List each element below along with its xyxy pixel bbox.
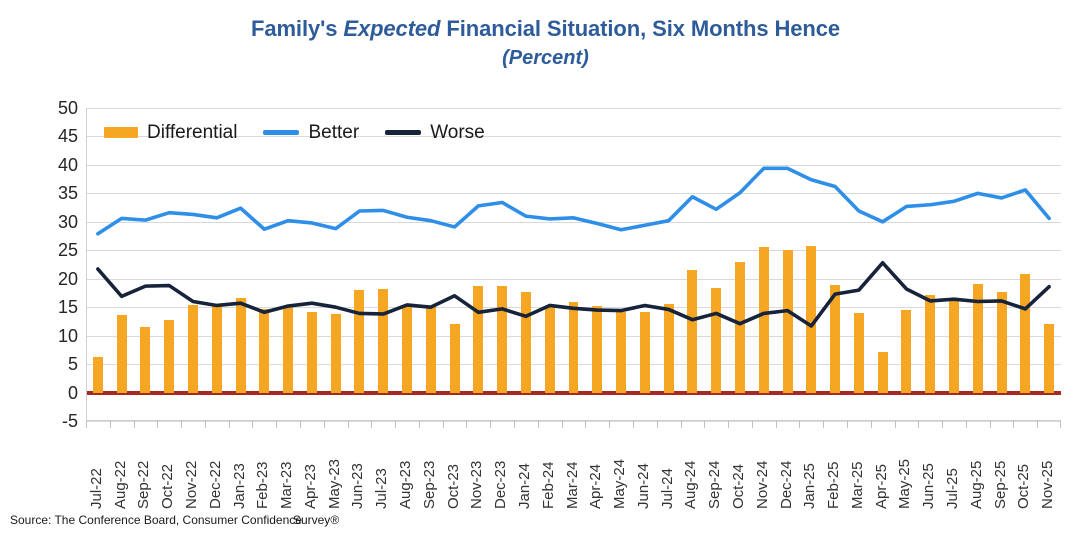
x-axis-tick-label: Jul-24 [660, 468, 675, 509]
x-axis-tick [157, 421, 158, 428]
y-axis-tick-label: 30 [8, 212, 78, 232]
x-axis-tick-label: Jul-25 [945, 468, 960, 509]
x-axis-tick-label: Nov-23 [469, 461, 484, 509]
x-axis-tick-label: Sep-24 [707, 461, 722, 509]
y-axis-tick-label: 0 [8, 383, 78, 403]
x-axis-tick [181, 421, 182, 428]
x-axis-tick-label: Mar-23 [279, 461, 294, 509]
title-emphasis: Expected [343, 16, 440, 41]
source-note: Source: The Conference Board, Consumer C… [10, 513, 348, 527]
x-axis-tick-label: Sep-22 [136, 461, 151, 509]
y-axis-tick-label: 45 [8, 126, 78, 146]
y-axis-tick-label: 50 [8, 98, 78, 118]
line-series-layer [86, 108, 1061, 421]
legend-line-swatch-worse-icon [385, 130, 421, 135]
x-axis-tick [229, 421, 230, 428]
registered-mark-icon: ® [330, 513, 339, 527]
x-axis-tick [1013, 421, 1014, 428]
x-axis-tick-label: Mar-25 [850, 461, 865, 509]
x-axis-tick [371, 421, 372, 428]
x-axis-tick-label: Jun-25 [921, 463, 936, 509]
x-axis-tick-label: Jun-23 [350, 463, 365, 509]
legend-item-worse[interactable]: Worse [385, 123, 485, 142]
x-axis-tick [633, 421, 634, 428]
x-axis-tick [847, 421, 848, 428]
x-axis-tick [895, 421, 896, 428]
legend-label-differential: Differential [147, 123, 237, 142]
x-axis-tick-label: Nov-24 [755, 461, 770, 509]
x-axis-tick [657, 421, 658, 428]
x-axis-tick [942, 421, 943, 428]
x-axis-tick [966, 421, 967, 428]
x-axis-tick-label: Apr-24 [588, 464, 603, 509]
legend-item-better[interactable]: Better [263, 123, 359, 142]
x-axis-tick-label: Sep-25 [993, 461, 1008, 509]
x-axis-tick [300, 421, 301, 428]
x-axis-tick [704, 421, 705, 428]
x-axis-tick [990, 421, 991, 428]
x-axis-tick [419, 421, 420, 428]
x-axis-tick-label: Jan-23 [232, 463, 247, 509]
x-axis-tick [466, 421, 467, 428]
x-axis-tick [1037, 421, 1038, 428]
x-axis-tick-label: Aug-24 [683, 461, 698, 509]
y-axis-tick-label: 5 [8, 354, 78, 374]
line-better [98, 168, 1049, 233]
x-axis-tick [918, 421, 919, 428]
x-axis-tick [86, 421, 87, 428]
x-axis-tick [348, 421, 349, 428]
x-axis-tick-label: Oct-25 [1016, 464, 1031, 509]
x-axis-tick [728, 421, 729, 428]
legend-item-differential[interactable]: Differential [104, 123, 237, 142]
x-axis-tick [443, 421, 444, 428]
y-axis-tick-label: 20 [8, 269, 78, 289]
x-axis-tick-label: Nov-25 [1040, 461, 1055, 509]
y-axis-tick-label: 35 [8, 183, 78, 203]
title-part-2: Financial Situation, Six Months Hence [440, 16, 840, 41]
title-part-1: Family's [251, 16, 343, 41]
x-axis-tick [585, 421, 586, 428]
x-axis-tick-label: Feb-23 [255, 461, 270, 509]
line-worse [98, 263, 1049, 326]
x-axis-tick-label: Dec-23 [493, 461, 508, 509]
x-axis-tick [681, 421, 682, 428]
x-axis-tick-label: Sep-23 [422, 461, 437, 509]
source-text: Source: The Conference Board, Consumer C… [10, 513, 302, 527]
x-axis-tick [110, 421, 111, 428]
x-axis-tick-label: Feb-25 [826, 461, 841, 509]
y-axis-tick-label: 40 [8, 155, 78, 175]
x-axis-tick [1060, 421, 1061, 428]
x-axis-tick [134, 421, 135, 428]
x-axis-tick-label: Feb-24 [541, 461, 556, 509]
chart-container: Family's Expected Financial Situation, S… [0, 0, 1091, 547]
x-axis-tick-label: May-25 [897, 459, 912, 509]
x-axis-tick-label: Jan-25 [802, 463, 817, 509]
x-axis-tick-label: Oct-24 [731, 464, 746, 509]
x-axis-tick [823, 421, 824, 428]
x-axis-tick [205, 421, 206, 428]
y-axis-labels: 50454035302520151050-5 [0, 108, 78, 421]
x-axis-ticks [86, 421, 1061, 429]
x-axis-tick-label: Oct-23 [446, 464, 461, 509]
x-axis-tick [609, 421, 610, 428]
x-axis-tick-label: Jun-24 [636, 463, 651, 509]
x-axis-tick-label: Jan-24 [517, 463, 532, 509]
y-axis-tick-label: 25 [8, 240, 78, 260]
x-axis-tick-label: Jul-22 [89, 468, 104, 509]
x-axis-tick-label: Dec-22 [208, 461, 223, 509]
x-axis-tick-label: Mar-24 [565, 461, 580, 509]
legend-label-worse: Worse [430, 123, 485, 142]
legend-label-better: Better [308, 123, 359, 142]
x-axis-tick-label: Dec-24 [779, 461, 794, 509]
legend-line-swatch-better-icon [263, 130, 299, 135]
x-axis-tick [514, 421, 515, 428]
x-axis-tick [252, 421, 253, 428]
y-axis-tick-label: -5 [8, 411, 78, 431]
x-axis-tick-label: May-24 [612, 459, 627, 509]
x-axis-tick [752, 421, 753, 428]
x-axis-tick [276, 421, 277, 428]
x-axis-tick [799, 421, 800, 428]
source-survey-text: Survey [293, 513, 330, 527]
x-axis-tick [776, 421, 777, 428]
x-axis-tick-label: Aug-25 [969, 461, 984, 509]
x-axis-tick [324, 421, 325, 428]
x-axis-tick-label: Apr-25 [874, 464, 889, 509]
x-axis-tick [490, 421, 491, 428]
x-axis-tick [395, 421, 396, 428]
x-axis-tick-label: Oct-22 [160, 464, 175, 509]
x-axis-tick [871, 421, 872, 428]
x-axis-tick-label: Aug-23 [398, 461, 413, 509]
x-axis-tick-label: Aug-22 [113, 461, 128, 509]
x-axis-tick-label: Apr-23 [303, 464, 318, 509]
legend-bar-swatch-icon [104, 127, 138, 138]
chart-subtitle: (Percent) [0, 44, 1091, 72]
x-axis-tick [538, 421, 539, 428]
chart-legend: Differential Better Worse [104, 123, 511, 142]
y-axis-tick-label: 15 [8, 297, 78, 317]
x-axis-tick-label: Nov-22 [184, 461, 199, 509]
y-axis-tick-label: 10 [8, 326, 78, 346]
x-axis-tick [562, 421, 563, 428]
x-axis-tick-label: May-23 [327, 459, 342, 509]
x-axis-labels: Jul-22Aug-22Sep-22Oct-22Nov-22Dec-22Jan-… [86, 429, 1061, 509]
x-axis-tick-label: Jul-23 [374, 468, 389, 509]
chart-title-block: Family's Expected Financial Situation, S… [0, 14, 1091, 72]
page-title: Family's Expected Financial Situation, S… [0, 14, 1091, 44]
